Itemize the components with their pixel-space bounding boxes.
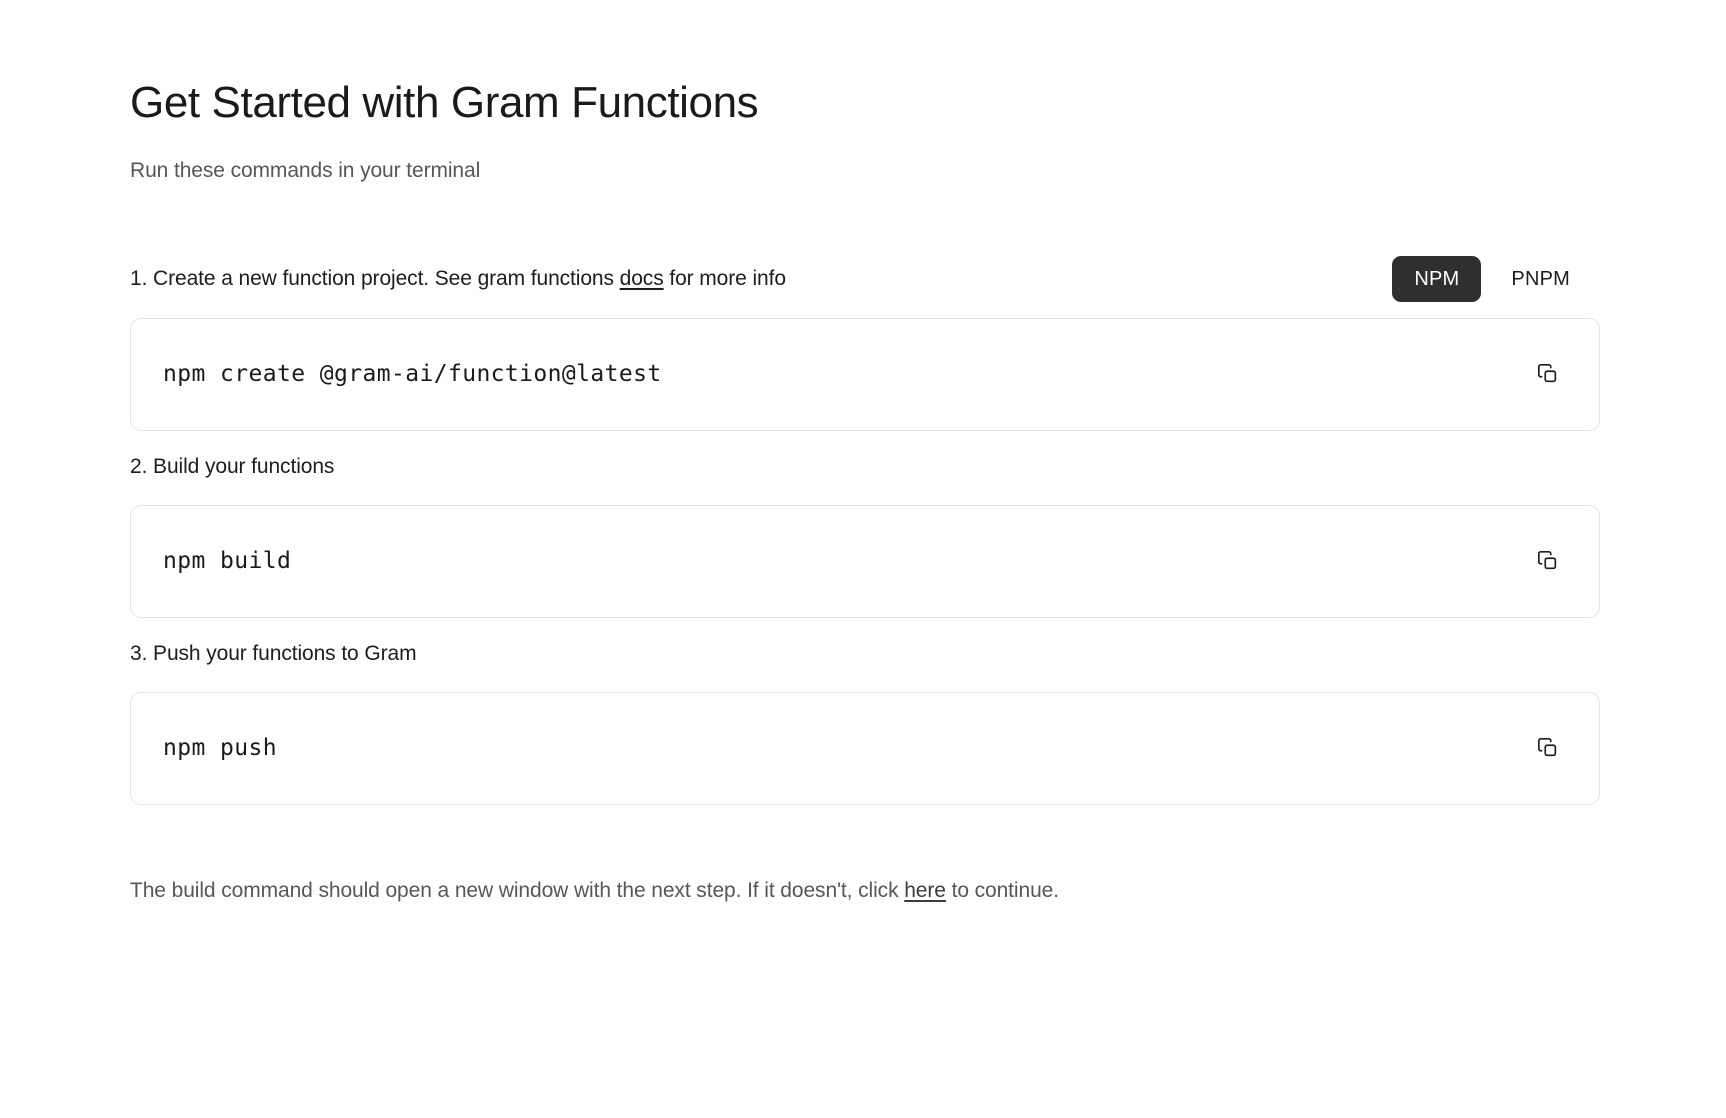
command-box-1: npm create @gram-ai/function@latest <box>130 318 1600 431</box>
footer-note: The build command should open a new wind… <box>130 877 1600 904</box>
copy-button-2[interactable] <box>1533 546 1563 576</box>
copy-icon <box>1537 737 1559 759</box>
footer-note-prefix: The build command should open a new wind… <box>130 879 904 902</box>
package-manager-option-npm[interactable]: NPM <box>1392 256 1481 302</box>
step-2-header: 2. Build your functions <box>130 445 1600 489</box>
get-started-page: Get Started with Gram Functions Run thes… <box>0 0 1726 1118</box>
page-content: Get Started with Gram Functions Run thes… <box>0 0 1726 904</box>
step-1-label-suffix: for more info <box>664 267 786 290</box>
page-subtitle: Run these commands in your terminal <box>130 157 1600 184</box>
copy-button-3[interactable] <box>1533 733 1563 763</box>
page-title: Get Started with Gram Functions <box>130 78 1600 129</box>
gram-functions-docs-link[interactable]: docs <box>620 267 664 290</box>
command-box-2: npm build <box>130 505 1600 618</box>
copy-icon <box>1537 550 1559 572</box>
command-text-1: npm create @gram-ai/function@latest <box>163 363 662 386</box>
step-3-label: 3. Push your functions to Gram <box>130 641 416 667</box>
step-1-label-prefix: 1. Create a new function project. See gr… <box>130 267 620 290</box>
steps-list: 1. Create a new function project. See gr… <box>130 256 1600 805</box>
step-2: 2. Build your functions npm build <box>130 445 1600 618</box>
step-3-header: 3. Push your functions to Gram <box>130 632 1600 676</box>
step-1: 1. Create a new function project. See gr… <box>130 256 1600 431</box>
step-1-header: 1. Create a new function project. See gr… <box>130 256 1600 302</box>
copy-icon <box>1537 363 1559 385</box>
package-manager-toggle: NPM PNPM <box>1392 256 1592 302</box>
command-text-3: npm push <box>163 737 277 760</box>
package-manager-option-pnpm[interactable]: PNPM <box>1489 256 1592 302</box>
copy-button-1[interactable] <box>1533 359 1563 389</box>
footer-note-suffix: to continue. <box>946 879 1059 902</box>
step-3: 3. Push your functions to Gram npm push <box>130 632 1600 805</box>
command-text-2: npm build <box>163 550 291 573</box>
command-box-3: npm push <box>130 692 1600 805</box>
continue-here-link[interactable]: here <box>904 879 946 902</box>
step-1-label: 1. Create a new function project. See gr… <box>130 266 786 292</box>
step-2-label: 2. Build your functions <box>130 454 334 480</box>
